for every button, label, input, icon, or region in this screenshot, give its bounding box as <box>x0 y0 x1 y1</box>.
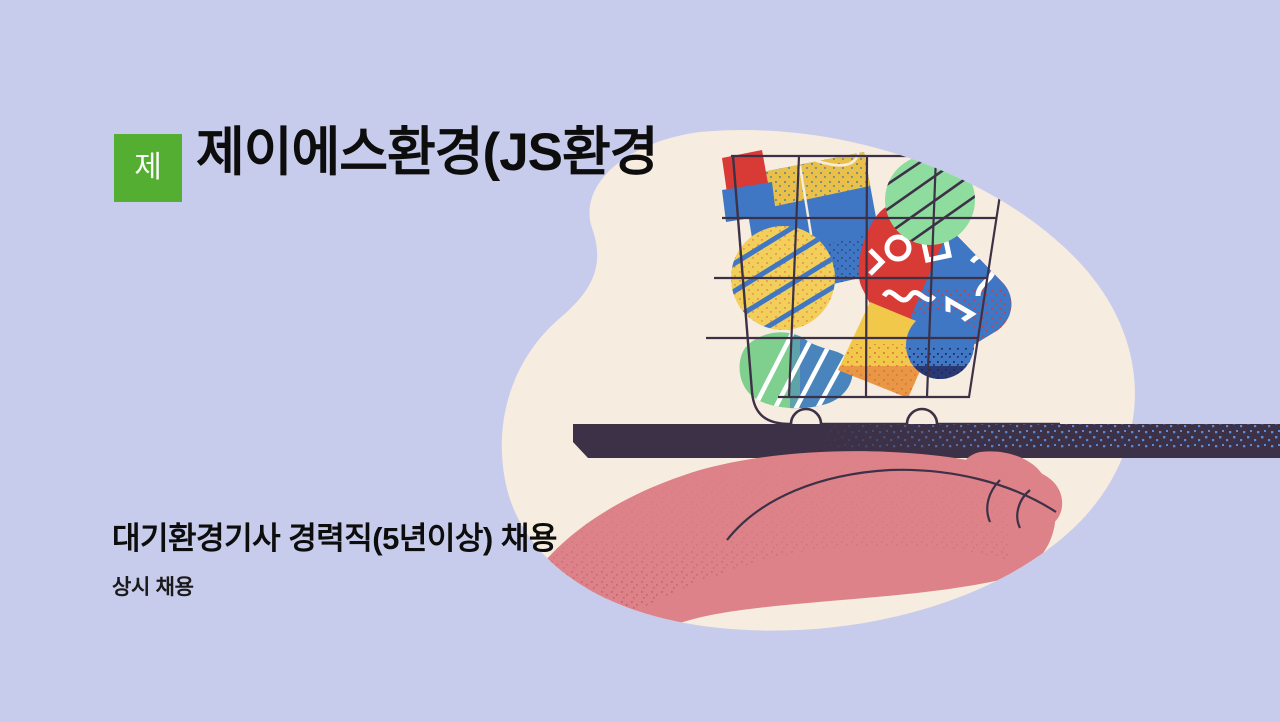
shelf-bar <box>573 424 1280 458</box>
hand-holding-shopping-cart-illustration <box>0 0 1280 722</box>
job-posting-card: 제 제이에스환경(JS환경 대기환경기사 경력직(5년이상) 채용 상시 채용 <box>0 0 1280 722</box>
